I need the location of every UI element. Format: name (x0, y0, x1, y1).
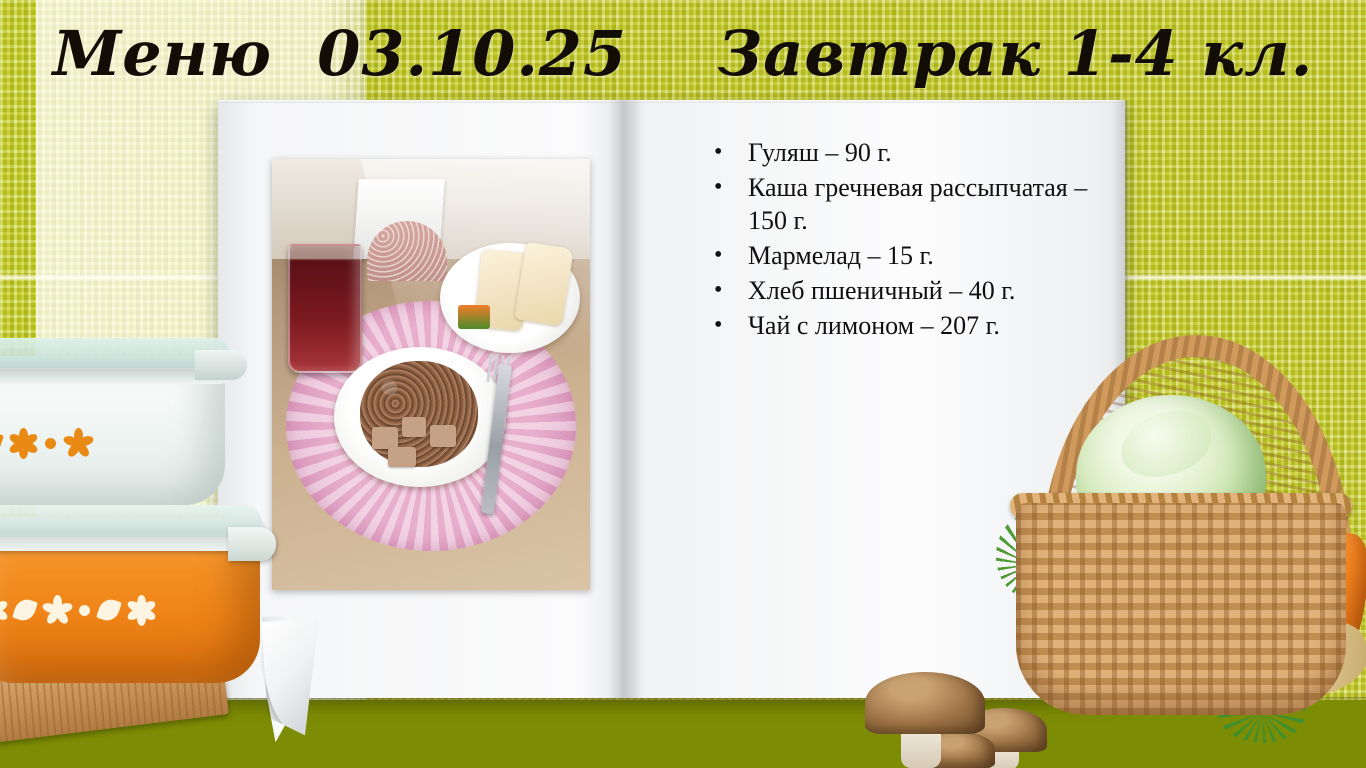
list-item: • Гуляш – 90 г. (705, 136, 1117, 169)
book-gutter (608, 100, 642, 698)
floral-pattern-icon (0, 597, 154, 623)
bullet-icon: • (705, 274, 748, 307)
bullet-icon: • (705, 136, 748, 169)
flower-icon (10, 430, 36, 456)
menu-item-label: Каша гречневая рассыпчатая – 150 г. (748, 171, 1117, 237)
casserole-handle (195, 350, 247, 380)
leaf-icon (12, 596, 38, 623)
floral-pattern-icon (0, 430, 91, 456)
mushrooms-image (865, 672, 1055, 768)
book-top-edge (218, 100, 1125, 103)
photo-goulash-piece (430, 425, 456, 447)
mushroom-cap (865, 672, 985, 734)
menu-item-label: Хлеб пшеничный – 40 г. (748, 274, 1117, 307)
leaf-icon (0, 429, 4, 456)
dot-icon (79, 605, 90, 616)
flower-icon (44, 597, 70, 623)
flower-icon (65, 430, 91, 456)
slide-canvas: Меню 03.10.25 Завтрак 1-4 кл. • Гу (0, 0, 1366, 768)
basket-weave (1016, 503, 1346, 715)
bullet-icon: • (705, 309, 748, 342)
casserole-handle (228, 527, 276, 561)
menu-list: • Гуляш – 90 г. • Каша гречневая рассыпч… (705, 136, 1117, 344)
vegetable-basket-image (1002, 335, 1366, 735)
menu-item-label: Гуляш – 90 г. (748, 136, 1117, 169)
photo-goulash-piece (388, 447, 416, 467)
leaf-icon (96, 596, 122, 623)
list-item: • Хлеб пшеничный – 40 г. (705, 274, 1117, 307)
photo-tea-glass (288, 244, 362, 373)
menu-item-label: Мармелад – 15 г. (748, 239, 1117, 272)
photo-buckwheat-porridge (360, 361, 478, 467)
list-item: • Мармелад – 15 г. (705, 239, 1117, 272)
flower-icon (128, 597, 154, 623)
photo-goulash-piece (372, 427, 398, 449)
bullet-icon: • (705, 239, 748, 272)
dot-icon (45, 438, 56, 449)
bullet-icon: • (705, 171, 748, 204)
photo-marmalade (458, 305, 490, 329)
list-item: • Каша гречневая рассыпчатая – 150 г. (705, 171, 1117, 237)
page-title: Меню 03.10.25 Завтрак 1-4 кл. (0, 18, 1366, 90)
pyrex-casserole-white (0, 338, 225, 538)
photo-goulash-piece (402, 417, 426, 437)
school-breakfast-photo (272, 159, 590, 590)
flower-icon (0, 597, 6, 623)
